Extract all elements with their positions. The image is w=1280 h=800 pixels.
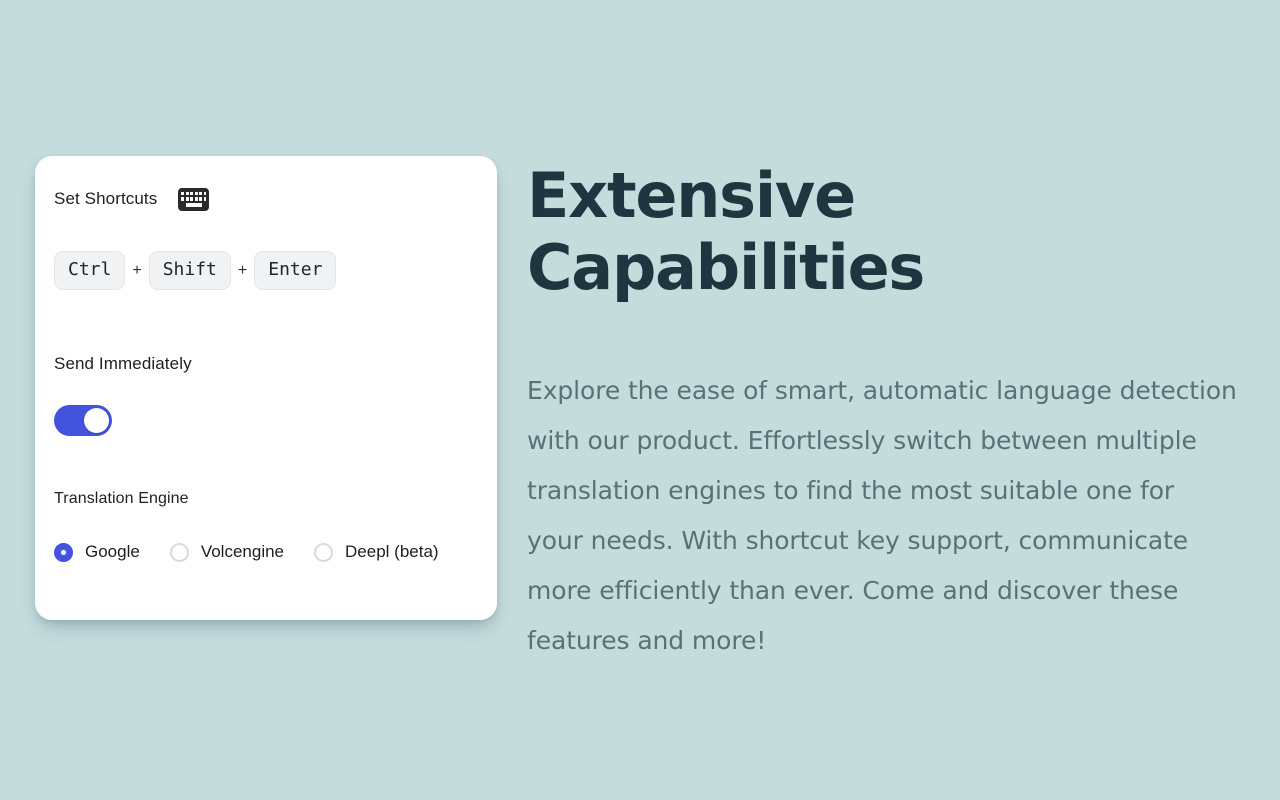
radio-icon-selected[interactable] (54, 543, 73, 562)
shortcut-separator: + (231, 261, 254, 281)
content-column: Extensive Capabilities Explore the ease … (527, 160, 1267, 666)
radio-option-volcengine[interactable]: Volcengine (170, 542, 284, 562)
keyboard-icon-key (190, 197, 193, 201)
keyboard-icon-key (186, 197, 189, 201)
keyboard-icon[interactable] (178, 188, 209, 211)
keyboard-icon-key (195, 192, 198, 196)
shortcut-separator: + (125, 261, 148, 281)
shortcut-key-enter[interactable]: Enter (254, 251, 336, 290)
toggle-knob (84, 408, 109, 433)
keyboard-icon-key (199, 192, 202, 196)
shortcut-key-shift[interactable]: Shift (149, 251, 231, 290)
keyboard-icon-key (199, 197, 202, 201)
keyboard-icon-key (186, 192, 189, 196)
keyboard-icon-key (195, 197, 198, 201)
keyboard-icon-key (181, 197, 184, 201)
keyboard-icon-spacebar (186, 203, 202, 207)
page-title: Extensive Capabilities (527, 160, 1267, 304)
radio-icon-unselected[interactable] (170, 543, 189, 562)
description-paragraph: Explore the ease of smart, automatic lan… (527, 366, 1237, 666)
keyboard-icon-row-1 (181, 192, 206, 196)
radio-option-deepl[interactable]: Deepl (beta) (314, 542, 439, 562)
send-immediately-label: Send Immediately (54, 353, 479, 375)
shortcut-keys-row: Ctrl + Shift + Enter (54, 251, 479, 290)
translation-engine-options: Google Volcengine Deepl (beta) (54, 542, 479, 562)
keyboard-icon-key (204, 197, 207, 201)
send-immediately-toggle[interactable] (54, 405, 112, 436)
radio-label-volcengine: Volcengine (201, 542, 284, 562)
keyboard-icon-key (190, 192, 193, 196)
keyboard-icon-row-2 (181, 197, 206, 201)
radio-icon-unselected[interactable] (314, 543, 333, 562)
shortcut-key-ctrl[interactable]: Ctrl (54, 251, 125, 290)
radio-label-deepl: Deepl (beta) (345, 542, 439, 562)
set-shortcuts-label: Set Shortcuts (54, 188, 157, 210)
keyboard-icon-key (181, 192, 184, 196)
set-shortcuts-header: Set Shortcuts (54, 186, 479, 212)
keyboard-icon-key (204, 192, 207, 196)
translation-engine-label: Translation Engine (54, 488, 479, 510)
radio-option-google[interactable]: Google (54, 542, 140, 562)
settings-card-content: Set Shortcuts (35, 186, 497, 562)
radio-label-google: Google (85, 542, 140, 562)
page-root: Set Shortcuts (0, 0, 1280, 800)
settings-card: Set Shortcuts (35, 156, 497, 620)
